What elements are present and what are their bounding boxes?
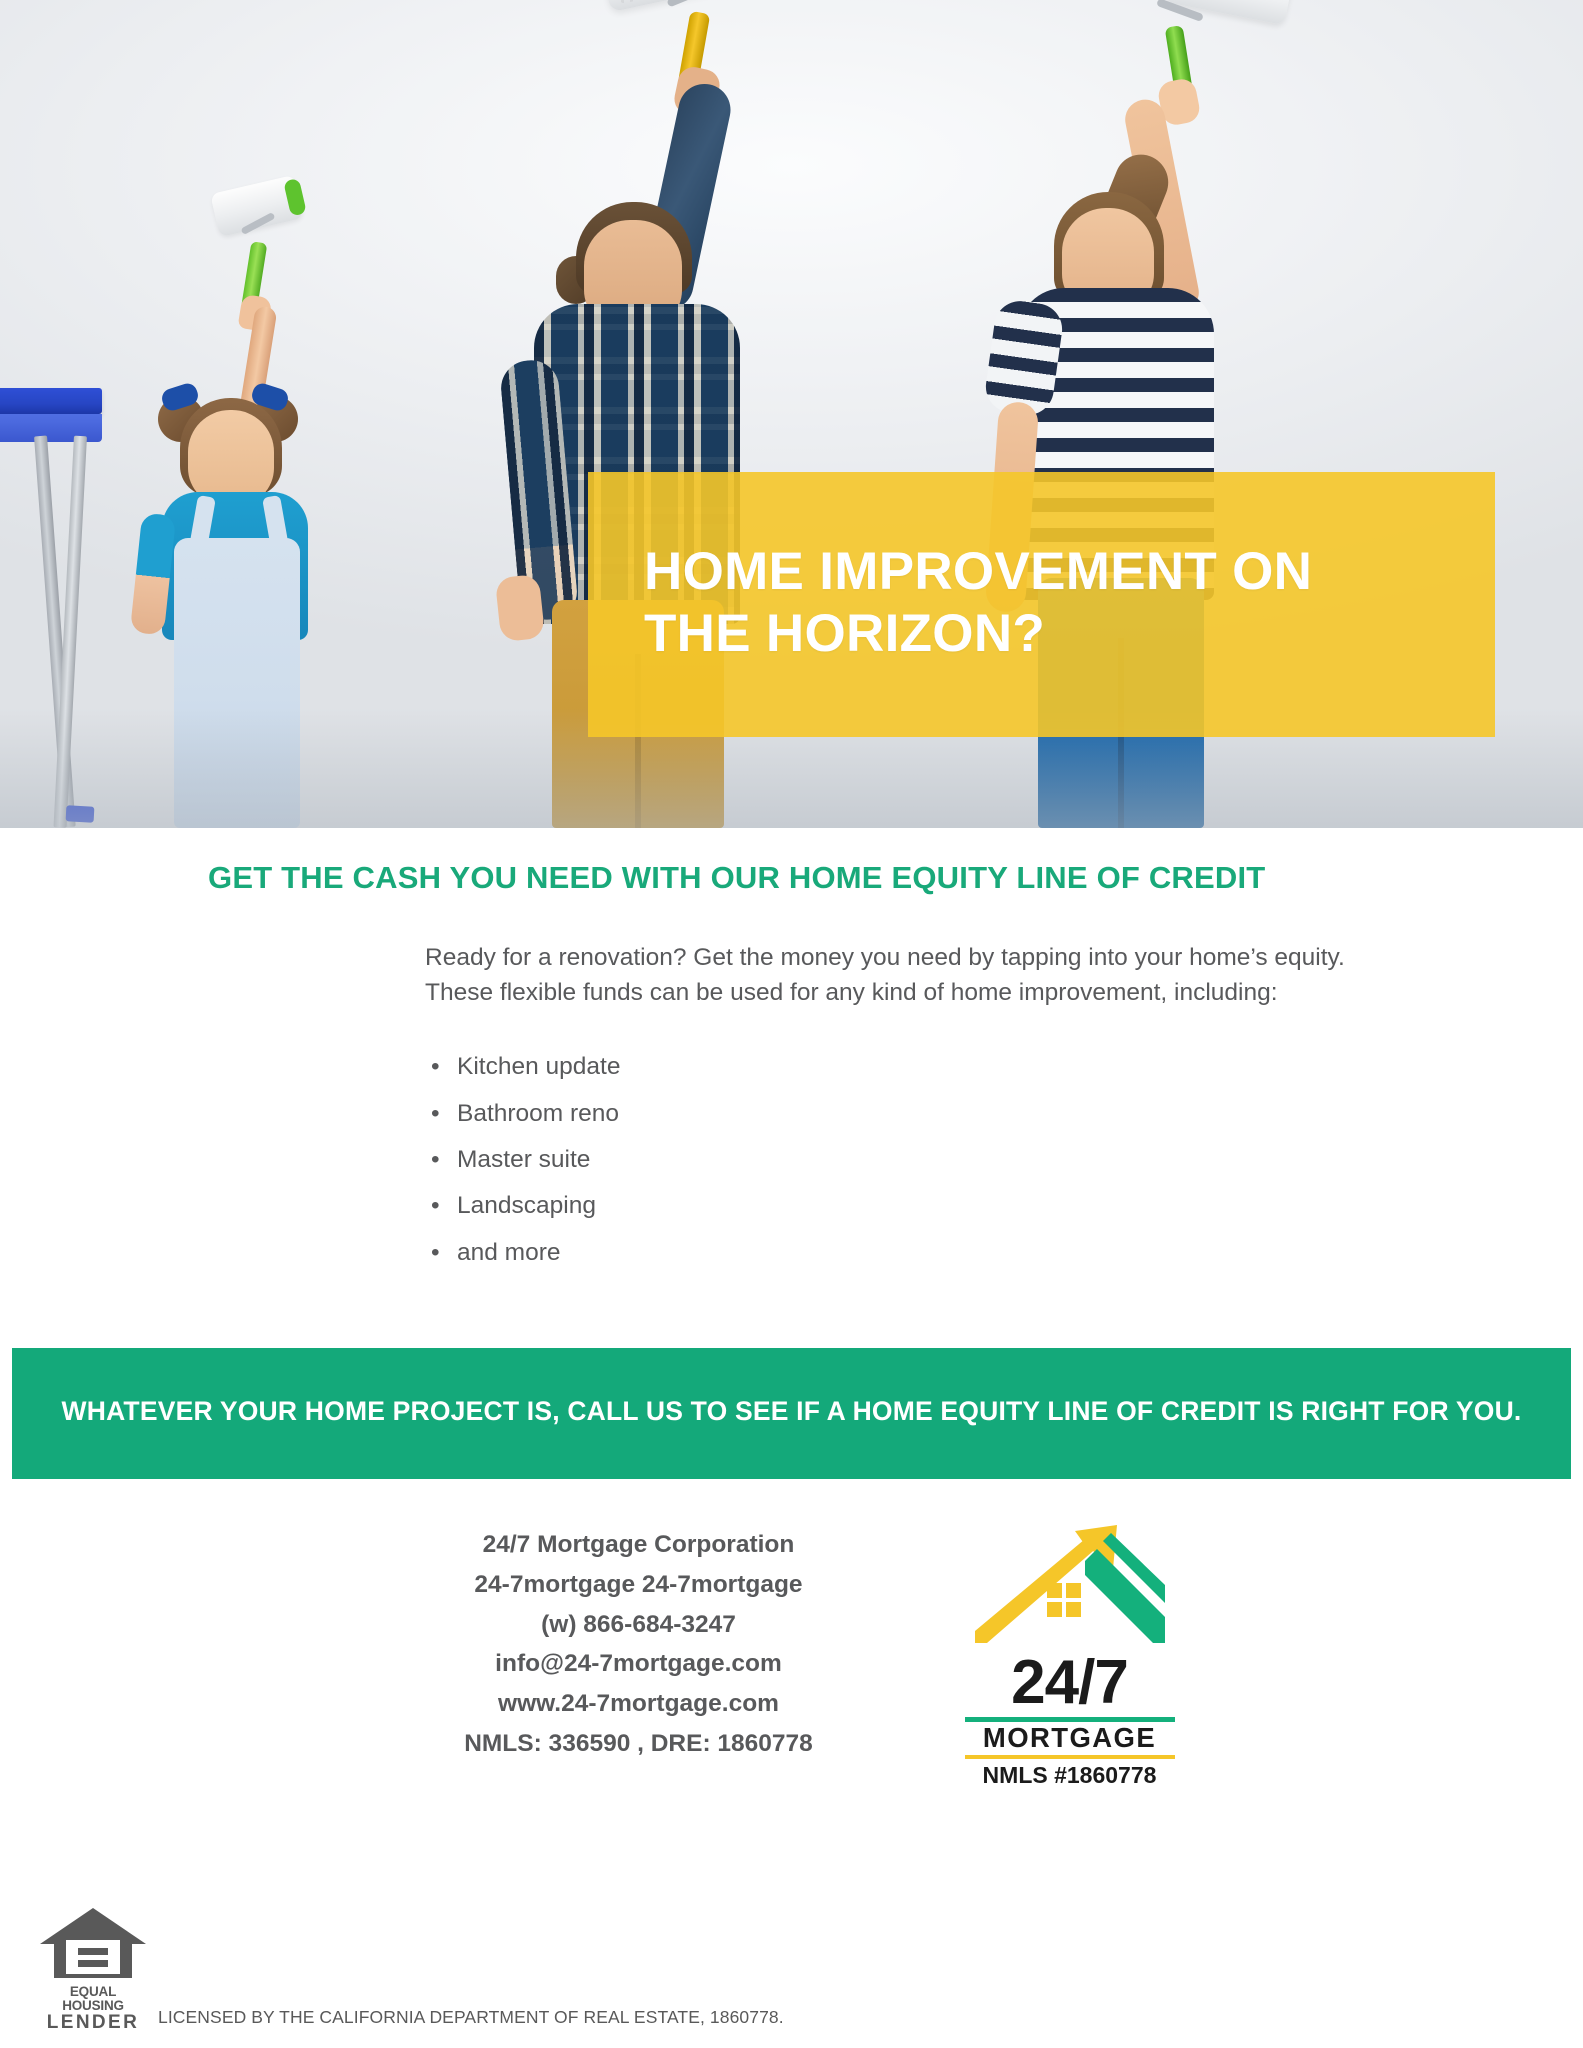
ehl-line-2: LENDER (38, 2013, 148, 2032)
contact-handle: 24-7mortgage 24-7mortgage (409, 1565, 869, 1605)
page-footer: EQUAL HOUSING LENDER LICENSED BY THE CAL… (0, 1906, 1583, 2032)
hero-headline: HOME IMPROVEMENT ONTHE HORIZON? (588, 541, 1312, 669)
paint-roller-rod-man (666, 0, 717, 7)
hero-headline-line1: HOME IMPROVEMENT ON (644, 542, 1312, 601)
company-name: 24/7 Mortgage Corporation (409, 1525, 869, 1565)
logo-wordmark: 24/7 MORTGAGE NMLS #1860778 (965, 1654, 1175, 1789)
man-hand-lowered (495, 574, 545, 642)
hero-headline-line2: THE HORIZON? (644, 604, 1045, 663)
list-item: Landscaping (425, 1183, 1583, 1229)
website-url[interactable]: www.24-7mortgage.com (409, 1684, 869, 1724)
list-item: and more (425, 1230, 1583, 1276)
equal-housing-house-icon (38, 1906, 148, 1980)
company-logo: 24/7 MORTGAGE NMLS #1860778 (965, 1519, 1175, 1789)
contact-row: 24/7 Mortgage Corporation 24-7mortgage 2… (0, 1479, 1583, 1789)
cta-banner: WHATEVER YOUR HOME PROJECT IS, CALL US T… (12, 1348, 1571, 1479)
list-item: Kitchen update (425, 1044, 1583, 1090)
main-content: GET THE CASH YOU NEED WITH OUR HOME EQUI… (0, 828, 1583, 1789)
equal-housing-lender-logo: EQUAL HOUSING LENDER (38, 1906, 148, 2032)
hero-banner: HOME IMPROVEMENT ONTHE HORIZON? (0, 0, 1583, 828)
section-title: GET THE CASH YOU NEED WITH OUR HOME EQUI… (0, 828, 1583, 899)
contact-details: 24/7 Mortgage Corporation 24-7mortgage 2… (409, 1519, 869, 1763)
license-numbers: NMLS: 336590 , DRE: 1860778 (409, 1724, 869, 1764)
logo-mortgage-word: MORTGAGE (965, 1724, 1175, 1753)
logo-nmls: NMLS #1860778 (965, 1762, 1175, 1789)
body-paragraph: Ready for a renovation? Get the money yo… (0, 899, 1583, 1011)
benefits-list: Kitchen update Bathroom reno Master suit… (0, 1010, 1583, 1276)
house-arrow-icon (965, 1523, 1175, 1651)
logo-yellow-rule (965, 1755, 1175, 1759)
license-disclaimer: LICENSED BY THE CALIFORNIA DEPARTMENT OF… (148, 2007, 784, 2032)
phone-number[interactable]: (w) 866-684-3247 (409, 1605, 869, 1645)
equal-housing-lender-text: EQUAL HOUSING LENDER (38, 1985, 148, 2032)
list-item: Bathroom reno (425, 1091, 1583, 1137)
ehl-line-1: EQUAL HOUSING (38, 1985, 148, 2012)
logo-number: 24/7 (965, 1654, 1175, 1713)
cta-text: WHATEVER YOUR HOME PROJECT IS, CALL US T… (58, 1392, 1525, 1431)
email-address[interactable]: info@24-7mortgage.com (409, 1644, 869, 1684)
list-item: Master suite (425, 1137, 1583, 1183)
headline-band: HOME IMPROVEMENT ONTHE HORIZON? (588, 472, 1495, 737)
ladder-tray (0, 388, 102, 414)
